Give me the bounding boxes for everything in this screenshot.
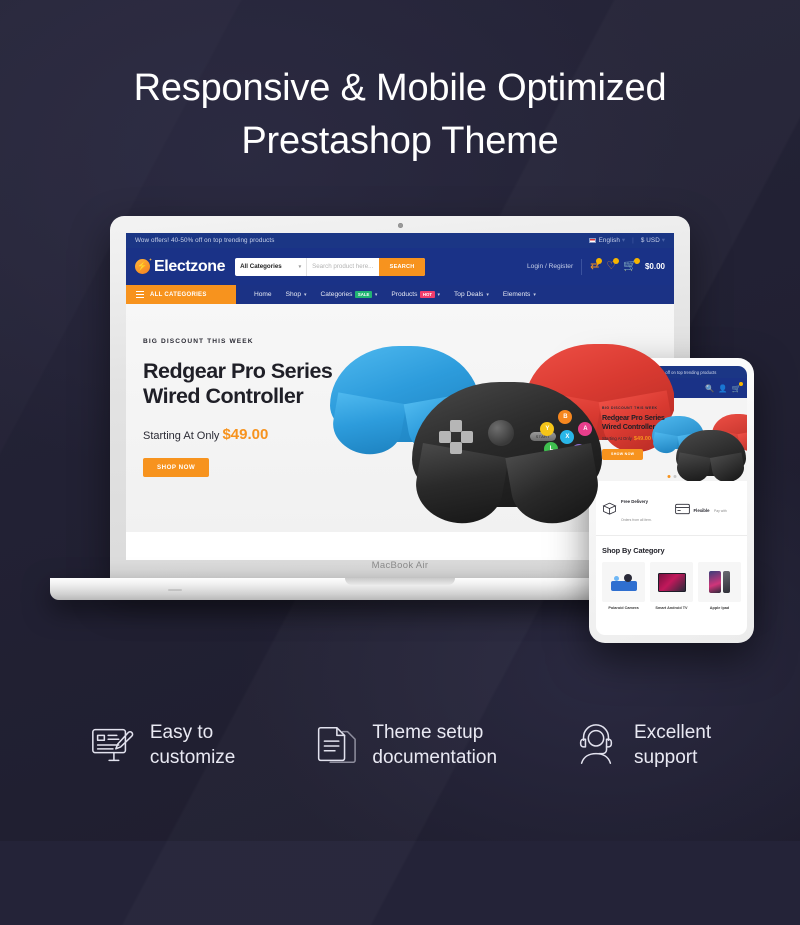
- store-topbar: Wow offers! 40-50% off on top trending p…: [126, 233, 674, 248]
- phone-hero-price-prefix: Starting At Only: [602, 436, 632, 441]
- chevron-down-icon: ▾: [622, 237, 625, 244]
- category-label: Polaroid Camera: [602, 606, 645, 611]
- category-label-line-2: TV: [683, 606, 688, 610]
- shop-by-category-title: Shop By Category: [596, 536, 747, 562]
- feature-label: Easy to customize: [150, 720, 236, 770]
- cart-icon[interactable]: 🛒: [732, 384, 741, 393]
- all-categories-label: ALL CATEGORIES: [150, 292, 207, 298]
- cart-icon[interactable]: 🛒: [623, 261, 637, 272]
- hero-price-prefix: Starting At Only: [143, 430, 219, 442]
- tablet-icon: [698, 562, 741, 602]
- user-icon[interactable]: 👤: [718, 384, 727, 393]
- search-icon[interactable]: 🔍: [705, 384, 714, 393]
- nav-label: Categories: [321, 291, 353, 298]
- compare-icon[interactable]: ⇄: [590, 261, 599, 272]
- phone-hero-price-value: $49.00: [634, 436, 651, 442]
- thumbstick-icon: [488, 420, 514, 446]
- sale-badge: SALE: [355, 291, 371, 298]
- hero-title: Redgear Pro Series Wired Controller: [143, 359, 373, 409]
- feature-label-line-2: customize: [150, 745, 236, 770]
- feature-label-line-1: Excellent: [634, 720, 711, 745]
- cart-total: $0.00: [645, 262, 665, 271]
- phone-screen: Wow offers! 40-50% off on top trending p…: [596, 366, 747, 635]
- bolt-icon: ⚡: [135, 259, 150, 274]
- credit-card-icon: [675, 502, 690, 515]
- hot-badge: HOT: [420, 291, 434, 298]
- category-card-polaroid-camera[interactable]: Polaroid Camera: [602, 562, 645, 611]
- category-label-line-1: Smart Android: [655, 606, 681, 610]
- compare-count-badge: [596, 258, 602, 264]
- chevron-down-icon: ▾: [304, 292, 307, 298]
- polaroid-camera-icon: [602, 562, 645, 602]
- nav-item-top-deals[interactable]: Top Deals ▾: [454, 291, 489, 298]
- search-input[interactable]: Search product here...: [307, 263, 379, 270]
- hero-price-value: $49.00: [222, 426, 268, 443]
- feature-label: Excellent support: [634, 720, 711, 770]
- headline-line-2: Prestashop Theme: [0, 115, 800, 168]
- topbar-divider: |: [632, 237, 634, 244]
- header-divider: [581, 259, 582, 275]
- feature-label: Theme setup documentation: [372, 720, 497, 770]
- nav-item-products[interactable]: Products HOT ▾: [391, 291, 440, 298]
- hero-copy: BIG DISCOUNT THIS WEEK Redgear Pro Serie…: [143, 338, 373, 477]
- phone-hero-price: Starting At Only$49.00: [602, 436, 690, 442]
- feature-label-line-1: Easy to: [150, 720, 236, 745]
- phone-hero-kicker: BIG DISCOUNT THIS WEEK: [602, 406, 690, 410]
- phone-hero-title: Redgear Pro Series Wired Controller: [602, 414, 690, 431]
- category-label-line-1: Polaroid: [608, 606, 623, 610]
- phone-hero-banner: BIG DISCOUNT THIS WEEK Redgear Pro Serie…: [596, 398, 747, 481]
- hero-price: Starting At Only$49.00: [143, 426, 373, 443]
- search-bar[interactable]: All Categories ▾ Search product here... …: [235, 258, 425, 276]
- hero-kicker: BIG DISCOUNT THIS WEEK: [143, 338, 373, 345]
- nav-label: Shop: [286, 291, 301, 298]
- monitor-brush-icon: [89, 722, 135, 768]
- wishlist-count-badge: [613, 258, 619, 264]
- service-free-delivery: Free Delivery Orders from all item.: [602, 490, 669, 526]
- currency-label: $ USD: [641, 237, 660, 244]
- category-label-line-2: Camera: [625, 606, 639, 610]
- feature-label-line-1: Theme setup: [372, 720, 497, 745]
- search-button[interactable]: SEARCH: [379, 258, 425, 276]
- all-categories-button[interactable]: ALL CATEGORIES: [126, 285, 236, 304]
- service-title: Free Delivery: [621, 499, 648, 504]
- hero-title-line-1: Redgear Pro Series: [143, 359, 373, 384]
- page-title: Responsive & Mobile Optimized Prestashop…: [0, 62, 800, 168]
- promo-text: Wow offers! 40-50% off on top trending p…: [135, 237, 274, 244]
- language-label: English: [599, 237, 620, 244]
- carousel-dot-active[interactable]: [667, 475, 670, 478]
- category-card-apple-ipad[interactable]: Apple Ipad: [698, 562, 741, 611]
- phone-hero-title-line-2: Wired Controller: [602, 423, 690, 431]
- nav-label: Home: [254, 291, 272, 298]
- account-link[interactable]: Login / Register: [527, 263, 573, 270]
- chevron-down-icon: ▾: [486, 292, 489, 298]
- carousel-dot[interactable]: [673, 475, 676, 478]
- feature-excellent-support: Excellent support: [573, 720, 711, 770]
- chevron-down-icon: ▾: [299, 264, 302, 270]
- hero-title-line-2: Wired Controller: [143, 384, 373, 409]
- nav-items: Home Shop ▾ Categories SALE ▾ Products H…: [236, 285, 536, 304]
- phone-shop-now-button[interactable]: SHOW NOW: [602, 449, 643, 460]
- shop-now-button[interactable]: SHOP NOW: [143, 458, 209, 477]
- dpad-icon: [439, 420, 473, 454]
- feature-theme-setup-documentation: Theme setup documentation: [311, 720, 497, 770]
- store-header: ⚡ Electzone All Categories ▾ Search prod…: [126, 248, 674, 285]
- camera-dot-icon: [398, 223, 403, 228]
- nav-label: Products: [391, 291, 417, 298]
- service-title: Flexible: [694, 508, 710, 513]
- hero-banner: START BAYXLR BIG DISCOUNT THIS WEEK Redg…: [126, 304, 674, 532]
- chevron-down-icon: ▾: [662, 237, 665, 244]
- language-selector[interactable]: English ▾: [589, 237, 625, 244]
- currency-selector[interactable]: $ USD ▾: [641, 237, 665, 244]
- nav-item-categories[interactable]: Categories SALE ▾: [321, 291, 378, 298]
- category-select-value: All Categories: [240, 263, 282, 270]
- feature-easy-to-customize: Easy to customize: [89, 720, 236, 770]
- store-navbar: ALL CATEGORIES Home Shop ▾ Categories SA…: [126, 285, 674, 304]
- store-logo[interactable]: ⚡ Electzone: [135, 258, 225, 276]
- chevron-down-icon: ▾: [438, 292, 441, 298]
- carousel-dots[interactable]: [667, 475, 676, 478]
- package-box-icon: [602, 502, 617, 515]
- logo-text: Electzone: [154, 258, 225, 276]
- feature-label-line-2: documentation: [372, 745, 497, 770]
- nav-label: Top Deals: [454, 291, 483, 298]
- flag-icon: [589, 238, 596, 243]
- service-flexible-payment: Flexible Pay with: [675, 490, 742, 526]
- nav-item-shop[interactable]: Shop ▾: [286, 291, 307, 298]
- phone-hero-copy: BIG DISCOUNT THIS WEEK Redgear Pro Serie…: [602, 406, 690, 460]
- cart-count-badge: [634, 258, 640, 264]
- category-grid: Polaroid Camera Smart Android TV Apple I…: [596, 562, 747, 611]
- service-subtitle: Pay with: [714, 509, 727, 513]
- controller-black: START BAYXLR: [412, 382, 602, 507]
- hamburger-icon: [136, 290, 144, 299]
- headset-support-icon: [573, 722, 619, 768]
- nav-item-home[interactable]: Home: [254, 291, 272, 298]
- phone-services: Free Delivery Orders from all item. Flex…: [596, 481, 747, 536]
- category-label-line-1: Apple Ipad: [710, 606, 729, 610]
- chevron-down-icon: ▾: [533, 292, 536, 298]
- category-card-smart-android-tv[interactable]: Smart Android TV: [650, 562, 693, 611]
- category-label: Apple Ipad: [698, 606, 741, 611]
- documents-icon: [311, 722, 357, 768]
- category-select[interactable]: All Categories ▾: [235, 258, 307, 276]
- heart-icon[interactable]: ♡: [606, 261, 616, 272]
- television-icon: [650, 562, 693, 602]
- feature-label-line-2: support: [634, 745, 711, 770]
- category-label: Smart Android TV: [650, 606, 693, 611]
- action-buttons-art: BAYXLR: [538, 410, 594, 466]
- feature-list: Easy to customize Theme setup documentat…: [0, 700, 800, 790]
- service-subtitle: Orders from all item.: [621, 518, 652, 522]
- chevron-down-icon: ▾: [375, 292, 378, 298]
- headline-line-1: Responsive & Mobile Optimized: [134, 67, 667, 109]
- nav-label: Elements: [503, 291, 531, 298]
- nav-item-elements[interactable]: Elements ▾: [503, 291, 536, 298]
- laptop-notch: [345, 578, 455, 585]
- cart-count-badge: [739, 382, 743, 386]
